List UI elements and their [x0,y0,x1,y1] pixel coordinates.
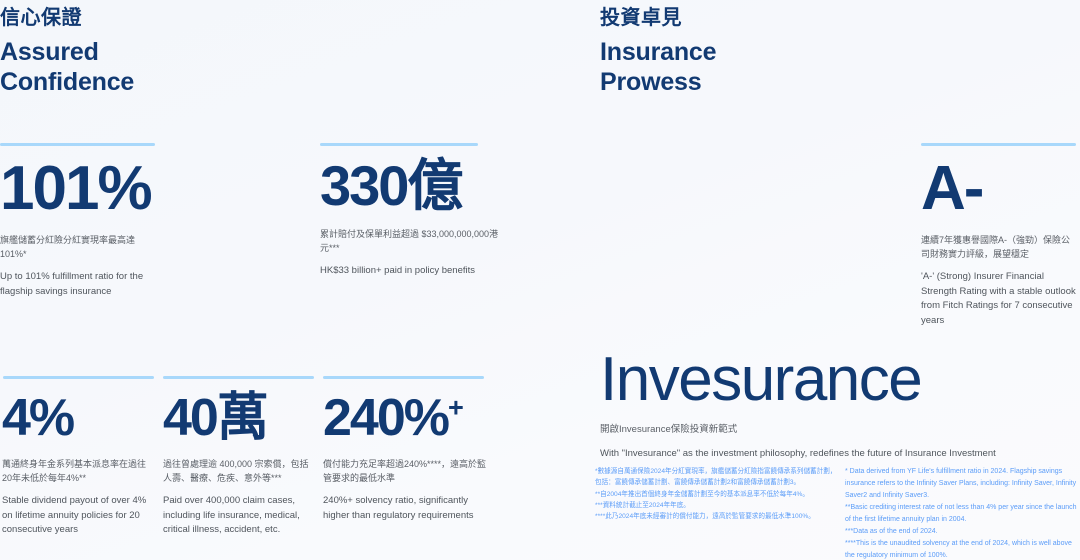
stat-description-en-400k: Paid over 400,000 claim cases, including… [163,494,315,538]
stat-block-fulfillment-ratio: 101% 旗艦儲蓄分紅險分紅實現率最高達101%* Up to 101% ful… [0,158,160,299]
divider-top-3 [921,143,1076,146]
footnote-en-2: **Basic crediting interest rate of not l… [845,502,1077,526]
stat-description-zh-330: 累計賠付及保單利益超過 $33,000,000,000港元*** [320,228,500,255]
footnote-zh-3: ***資料統計截止至2024年年底。 [595,500,840,511]
invesurance-tagline-en: With "Invesurance" as the investment phi… [600,447,1070,461]
section-header-left-english-line2: Confidence [0,68,134,98]
section-header-right-english-line2: Prowess [600,68,716,98]
stat-figure-330: 330億 [320,158,500,214]
invesurance-tagline-zh: 開啟Invesurance保險投資新範式 [600,423,1070,437]
section-header-right-english: Insurance Prowess [600,38,716,97]
footnotes-english: * Data derived from YF Life's fulfillmen… [845,466,1077,560]
section-header-left-english-line1: Assured [0,38,134,68]
footnote-zh-2: **自2004年推出首個終身年金儲蓄計劃至今的基本派息率不低於每年4%。 [595,489,840,500]
section-header-right-chinese: 投資卓見 [600,6,716,31]
stat-figure-400k: 40萬 [163,392,315,444]
stat-figure-101: 101% [0,158,160,220]
stat-description-en-240: 240%+ solvency ratio, significantly high… [323,494,491,523]
section-header-right-english-line1: Insurance [600,38,716,68]
footnotes-chinese: *數據源自萬通保險2024年分紅實現率，旗艦儲蓄分紅險指富饒傳承系列儲蓄計劃，包… [595,466,840,523]
footnote-en-4: ****This is the unaudited solvency at th… [845,538,1077,560]
stat-figure-240-superscript: + [448,393,464,423]
invesurance-block: Invesurance 開啟Invesurance保險投資新範式 With "I… [600,348,1070,462]
stat-block-solvency-ratio: 240%+ 償付能力充足率超過240%****，遠高於監管要求的最低水準 240… [323,392,491,523]
divider-top-2 [320,143,478,146]
stat-description-zh-400k: 過往曾處理逾 400,000 宗索償，包括人壽、醫療、危疾、意外等*** [163,458,315,485]
section-header-left-chinese: 信心保證 [0,6,134,31]
stat-figure-240-value: 240% [323,389,448,447]
stat-description-zh-240: 償付能力充足率超過240%****，遠高於監管要求的最低水準 [323,458,491,485]
stat-figure-rating: A- [921,158,1076,220]
stat-figure-240: 240%+ [323,392,491,444]
stat-block-claim-cases: 40萬 過往曾處理逾 400,000 宗索償，包括人壽、醫療、危疾、意外等***… [163,392,315,538]
stat-block-dividend-payout: 4% 萬通終身年金系列基本派息率在過往20年未低於每年4%** Stable d… [2,392,154,538]
footnote-en-1: * Data derived from YF Life's fulfillmen… [845,466,1077,502]
divider-top-1 [0,143,155,146]
stat-figure-4pct: 4% [2,392,154,444]
stat-description-zh-rating: 連續7年獲惠譽國際A-（強勁）保險公司財務實力評級，展望穩定 [921,234,1076,261]
divider-bottom-3 [323,376,484,379]
footnote-zh-1: *數據源自萬通保險2024年分紅實現率，旗艦儲蓄分紅險指富饒傳承系列儲蓄計劃，包… [595,466,840,489]
stat-description-zh-101: 旗艦儲蓄分紅險分紅實現率最高達101%* [0,234,160,261]
stat-description-en-101: Up to 101% fulfillment ratio for the fla… [0,270,160,299]
section-header-assured-confidence: 信心保證 Assured Confidence [0,6,134,97]
section-header-left-english: Assured Confidence [0,38,134,97]
stat-description-zh-4pct: 萬通終身年金系列基本派息率在過往20年未低於每年4%** [2,458,154,485]
footnote-en-3: ***Data as of the end of 2024. [845,526,1077,538]
divider-bottom-2 [163,376,314,379]
invesurance-wordmark: Invesurance [600,348,1070,411]
stat-block-policy-benefits: 330億 累計賠付及保單利益超過 $33,000,000,000港元*** HK… [320,158,500,279]
stat-description-en-rating: 'A-' (Strong) Insurer Financial Strength… [921,270,1076,329]
divider-bottom-1 [3,376,154,379]
section-header-insurance-prowess: 投資卓見 Insurance Prowess [600,6,716,97]
footnote-zh-4: ****此乃2024年底未經審計的償付能力，遠高於監管要求的最低水準100%。 [595,511,840,522]
stat-block-fitch-rating: A- 連續7年獲惠譽國際A-（強勁）保險公司財務實力評級，展望穩定 'A-' (… [921,158,1076,329]
stat-description-en-330: HK$33 billion+ paid in policy benefits [320,264,500,279]
stat-description-en-4pct: Stable dividend payout of over 4% on lif… [2,494,154,538]
infographic-canvas: 信心保證 Assured Confidence 投資卓見 Insurance P… [0,0,1080,560]
